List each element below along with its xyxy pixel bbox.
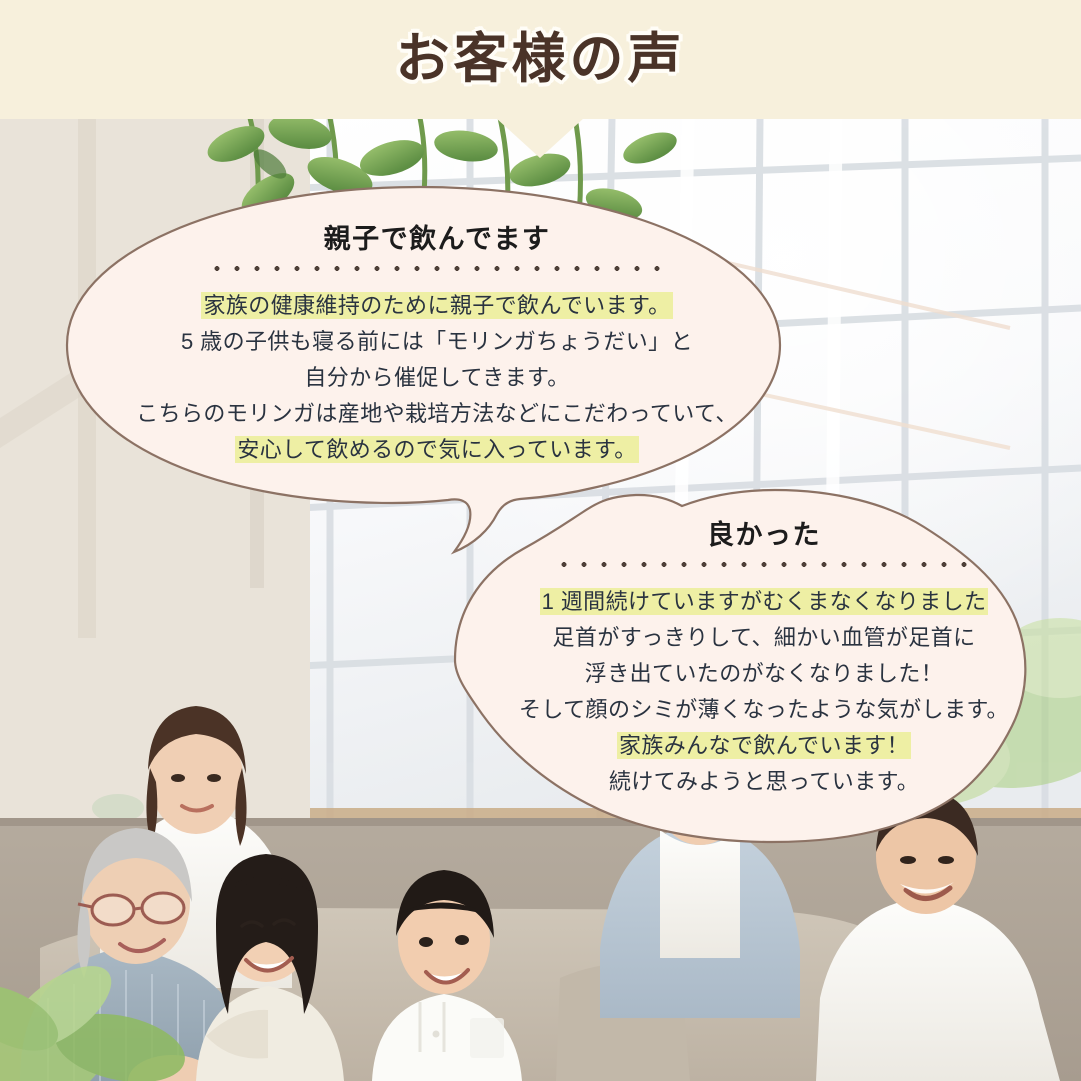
dotted-divider [559, 561, 969, 567]
testimonial-1-body: 家族の健康維持のために親子で飲んでいます。 5 歳の子供も寝る前には「モリンガち… [92, 288, 782, 468]
testimonial-line: 足首がすっきりして、細かい血管が足首に [474, 620, 1054, 656]
testimonial-line: 続けてみようと思っています。 [474, 764, 1054, 800]
testimonial-line: 安心して飲めるので気に入っています。 [92, 432, 782, 468]
header-notch-arrow [496, 118, 584, 158]
testimonial-line: そして顔のシミが薄くなったような気がします。 [474, 692, 1054, 728]
testimonial-line: こちらのモリンガは産地や栽培方法などにこだわっていて、 [92, 396, 782, 432]
testimonial-1: 親子で飲んでます 家族の健康維持のために親子で飲んでいます。 5 歳の子供も寝る… [92, 222, 782, 468]
testimonial-line: 家族の健康維持のために親子で飲んでいます。 [92, 288, 782, 324]
testimonial-1-title: 親子で飲んでます [92, 222, 782, 256]
page-title: お客様の声 [0, 25, 1081, 93]
testimonial-2-title: 良かった [474, 518, 1054, 552]
testimonial-2: 良かった 1 週間続けていますがむくまなくなりました 足首がすっきりして、細かい… [474, 518, 1054, 800]
testimonial-line: 5 歳の子供も寝る前には「モリンガちょうだい」と [92, 324, 782, 360]
testimonial-line: 1 週間続けていますがむくまなくなりました [474, 584, 1054, 620]
dotted-divider [211, 265, 663, 271]
testimonial-line: 浮き出ていたのがなくなりました！ [474, 656, 1054, 692]
testimonial-page: 親子で飲んでます 家族の健康維持のために親子で飲んでいます。 5 歳の子供も寝る… [0, 0, 1081, 1081]
testimonial-line: 家族みんなで飲んでいます！ [474, 728, 1054, 764]
testimonial-2-body: 1 週間続けていますがむくまなくなりました 足首がすっきりして、細かい血管が足首… [474, 584, 1054, 800]
testimonial-line: 自分から催促してきます。 [92, 360, 782, 396]
